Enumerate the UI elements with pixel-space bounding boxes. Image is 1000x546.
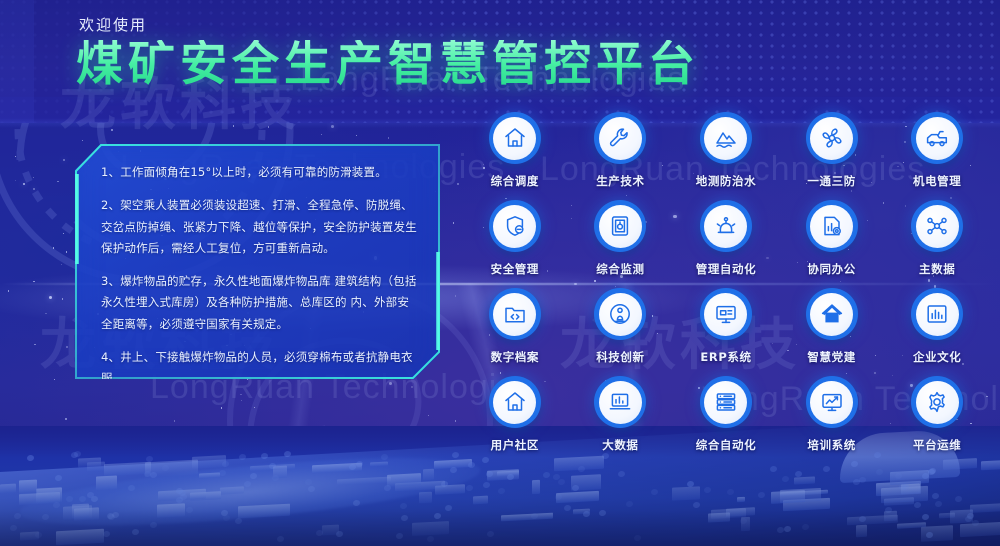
module-icon-ring: [911, 376, 963, 428]
module-tile-label: 平台运维: [913, 437, 961, 453]
module-tile-label: 培训系统: [807, 437, 855, 453]
module-tile-智慧党建[interactable]: 智慧党建: [784, 288, 880, 365]
module-tile-label: 智慧党建: [807, 349, 855, 365]
module-tile-企业文化[interactable]: 企业文化: [889, 288, 985, 365]
module-tile-label: 协同办公: [807, 261, 855, 277]
screen-trend-icon: [810, 381, 853, 424]
monitor-sensor-icon: [599, 205, 642, 248]
module-icon-ring: [594, 112, 646, 164]
module-tile-label: 综合监测: [596, 261, 644, 277]
module-icon-ring: [700, 376, 752, 428]
module-icon-ring: [911, 200, 963, 252]
module-tile-label: 生产技术: [596, 173, 644, 189]
notice-item: 3、爆炸物品的贮存，永久性地面爆炸物品库 建筑结构（包括永久性埋入式库房）及各种…: [101, 271, 418, 335]
home-icon: [493, 117, 536, 160]
module-tile-机电管理[interactable]: 机电管理: [889, 112, 985, 189]
module-icon-ring: [489, 376, 541, 428]
module-icon-ring: [700, 200, 752, 252]
alarm-lamp-icon: [704, 205, 747, 248]
module-tile-label: 一通三防: [807, 173, 855, 189]
module-icon-ring: [806, 200, 858, 252]
module-tile-数字档案[interactable]: 数字档案: [467, 288, 563, 365]
module-icon-ring: [489, 288, 541, 340]
notice-item: 4、井上、下接触爆炸物品的人员，必须穿棉布或者抗静电衣服。: [101, 347, 418, 379]
server-stack-icon: [704, 381, 747, 424]
module-icon-ring: [806, 288, 858, 340]
module-tile-label: 综合自动化: [696, 437, 757, 453]
desktop-erp-icon: [704, 293, 747, 336]
module-tile-label: 主数据: [919, 261, 955, 277]
node-network-icon: [916, 205, 959, 248]
module-tile-地测防治水[interactable]: 地测防治水: [678, 112, 774, 189]
document-chart-icon: [810, 205, 853, 248]
module-tile-大数据[interactable]: 大数据: [572, 376, 668, 453]
module-icon-ring: [911, 112, 963, 164]
innovation-globe-icon: [599, 293, 642, 336]
module-tile-label: 管理自动化: [696, 261, 757, 277]
module-tile-综合监测[interactable]: 综合监测: [572, 200, 668, 277]
bar-chart-icon: [916, 293, 959, 336]
mountain-water-icon: [704, 117, 747, 160]
platform-dashboard: 龙软科技 LongRuan Technologies LongRuan Tech…: [0, 0, 1000, 546]
safety-notice-list: 1、工作面倾角在15°以上时，必须有可靠的防滑装置。 2、架空乘人装置必须装设超…: [75, 144, 440, 379]
laptop-chart-icon: [599, 381, 642, 424]
module-icon-ring: [700, 288, 752, 340]
module-icon-ring: [806, 376, 858, 428]
wrench-icon: [599, 117, 642, 160]
module-tile-用户社区[interactable]: 用户社区: [467, 376, 563, 453]
home-community-icon: [493, 381, 536, 424]
module-icon-ring: [594, 200, 646, 252]
module-tile-label: 大数据: [602, 437, 638, 453]
module-icon-ring: [594, 288, 646, 340]
module-tile-label: ERP系统: [700, 349, 751, 365]
module-grid: 综合调度生产技术地测防治水一通三防机电管理安全管理综合监测管理自动化协同办公主数…: [462, 112, 990, 464]
module-icon-ring: [489, 112, 541, 164]
module-icon-ring: [700, 112, 752, 164]
module-tile-综合自动化[interactable]: 综合自动化: [678, 376, 774, 453]
welcome-text: 欢迎使用: [79, 14, 147, 35]
notice-item: 1、工作面倾角在15°以上时，必须有可靠的防滑装置。: [101, 162, 418, 183]
module-tile-安全管理[interactable]: 安全管理: [467, 200, 563, 277]
module-tile-label: 企业文化: [913, 349, 961, 365]
module-tile-一通三防[interactable]: 一通三防: [784, 112, 880, 189]
module-tile-管理自动化[interactable]: 管理自动化: [678, 200, 774, 277]
folder-code-icon: [493, 293, 536, 336]
notice-item: 2、架空乘人装置必须装设超速、打滑、全程急停、防脱绳、交岔点防掉绳、张紧力下降、…: [101, 195, 418, 259]
module-tile-培训系统[interactable]: 培训系统: [784, 376, 880, 453]
module-tile-label: 用户社区: [491, 437, 539, 453]
module-tile-label: 数字档案: [491, 349, 539, 365]
module-tile-主数据[interactable]: 主数据: [889, 200, 985, 277]
machinery-truck-icon: [916, 117, 959, 160]
module-tile-label: 安全管理: [491, 261, 539, 277]
house-solid-icon: [810, 293, 853, 336]
module-tile-label: 综合调度: [491, 173, 539, 189]
module-icon-ring: [911, 288, 963, 340]
shield-check-icon: [493, 205, 536, 248]
fan-ventilation-icon: [810, 117, 853, 160]
page-title: 煤矿安全生产智慧管控平台: [76, 40, 700, 89]
module-tile-label: 机电管理: [913, 173, 961, 189]
module-tile-生产技术[interactable]: 生产技术: [572, 112, 668, 189]
module-tile-综合调度[interactable]: 综合调度: [467, 112, 563, 189]
module-tile-label: 科技创新: [596, 349, 644, 365]
gear-icon: [916, 381, 959, 424]
module-tile-label: 地测防治水: [696, 173, 757, 189]
module-tile-ERP系统[interactable]: ERP系统: [678, 288, 774, 365]
module-tile-科技创新[interactable]: 科技创新: [572, 288, 668, 365]
module-tile-协同办公[interactable]: 协同办公: [784, 200, 880, 277]
module-icon-ring: [594, 376, 646, 428]
module-tile-平台运维[interactable]: 平台运维: [889, 376, 985, 453]
module-icon-ring: [489, 200, 541, 252]
module-icon-ring: [806, 112, 858, 164]
